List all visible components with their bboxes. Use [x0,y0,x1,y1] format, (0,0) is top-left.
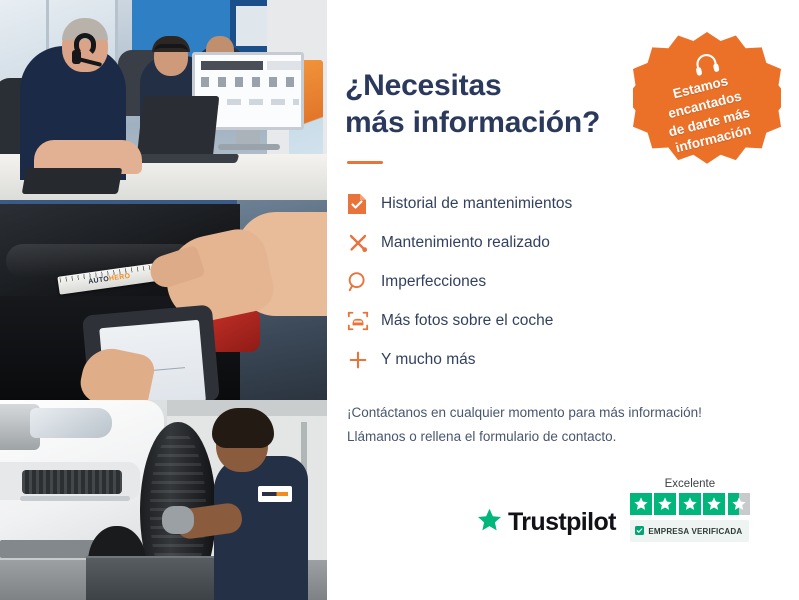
info-badge: Estamos encantados de darte más informac… [633,32,781,180]
verified-check-icon [635,522,644,540]
trustpilot-wordmark: Trustpilot [508,508,616,537]
trustpilot-widget[interactable]: Trustpilot Excelente EMPRESA VERIFICADA [476,478,750,542]
star-icon [703,493,725,515]
trustpilot-logo[interactable]: Trustpilot [476,507,616,542]
list-item: Y mucho más [347,340,799,379]
feature-list: Historial de mantenimientos Mantenimient… [347,184,799,379]
plus-icon [347,349,381,371]
list-item-label: Mantenimiento realizado [381,234,550,252]
contact-line-2: Llámanos o rellena el formulario de cont… [347,429,616,444]
list-item-label: Imperfecciones [381,273,486,291]
headline-line-2: más información? [345,106,600,139]
car-photo-frame-icon [347,310,381,332]
promo-card: AUTOHERO ¿Necesitas más información? [0,0,799,600]
verified-label: EMPRESA VERIFICADA [648,527,742,536]
photo-column: AUTOHERO [0,0,327,600]
contact-line-1: ¡Contáctanos en cualquier momento para m… [347,405,702,420]
star-icon [630,493,652,515]
list-item-label: Y mucho más [381,351,475,369]
contact-text: ¡Contáctanos en cualquier momento para m… [347,401,799,448]
magnifier-icon [347,271,381,293]
list-item: Historial de mantenimientos [347,184,799,223]
status-badge: EMPRESA VERIFICADA [630,520,749,542]
list-item: Imperfecciones [347,262,799,301]
star-icon [679,493,701,515]
list-item: Más fotos sobre el coche [347,301,799,340]
trustpilot-rating: Excelente EMPRESA VERIFICADA [630,478,750,542]
star-icon [654,493,676,515]
list-item-label: Más fotos sobre el coche [381,312,553,330]
list-item: Mantenimiento realizado [347,223,799,262]
tools-wrench-screwdriver-icon [347,232,381,254]
list-item-label: Historial de mantenimientos [381,195,572,213]
headline-line-1: ¿Necesitas [345,69,501,102]
trustpilot-star-icon [476,507,503,538]
mechanic-wheel-photo [0,400,327,600]
car-inspection-ruler-photo: AUTOHERO [0,200,327,400]
title-divider [347,161,383,164]
star-half-icon [728,493,750,515]
call-center-agents-photo [0,0,327,200]
checklist-document-icon [347,193,381,215]
star-rating [630,493,750,515]
rating-label: Excelente [665,478,716,490]
